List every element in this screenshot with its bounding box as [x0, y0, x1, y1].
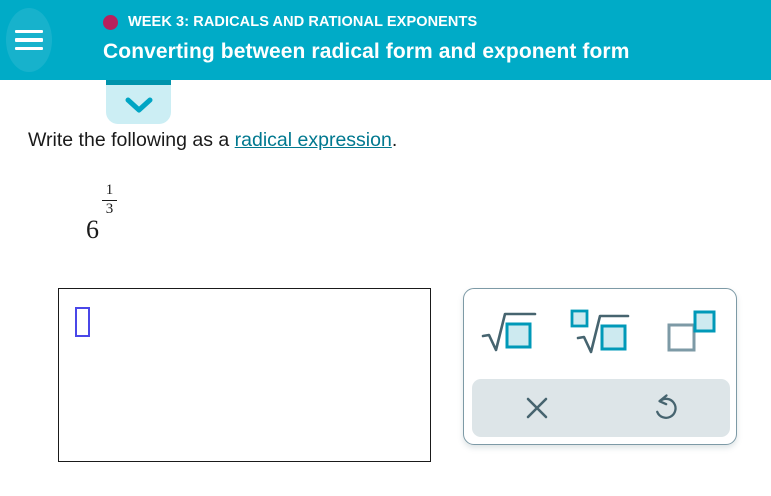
expression-exponent-fraction: 1 3 — [102, 183, 117, 218]
undo-button[interactable] — [601, 379, 730, 437]
hamburger-line — [15, 47, 43, 50]
square-root-icon — [480, 309, 538, 353]
unit-label: WEEK 3: RADICALS AND RATIONAL EXPONENTS — [128, 14, 477, 30]
keypad-symbol-row — [464, 289, 736, 373]
empty-math-slot[interactable] — [75, 307, 90, 337]
page-title: Converting between radical form and expo… — [103, 40, 629, 64]
math-expression: 6 1 3 — [86, 176, 117, 246]
answer-input-box[interactable] — [58, 288, 431, 462]
collapse-header-tab[interactable] — [106, 80, 171, 124]
hamburger-menu-button[interactable] — [6, 8, 52, 72]
exponent-icon — [663, 309, 719, 353]
prompt-text-before: Write the following as a — [28, 129, 235, 151]
clear-button[interactable] — [472, 379, 601, 437]
square-root-button[interactable] — [464, 295, 555, 367]
app-header: WEEK 3: RADICALS AND RATIONAL EXPONENTS … — [0, 0, 771, 80]
header-text-block: WEEK 3: RADICALS AND RATIONAL EXPONENTS … — [103, 10, 629, 64]
close-icon — [522, 393, 552, 423]
hamburger-menu-icon — [15, 30, 43, 50]
chevron-down-icon — [124, 96, 154, 114]
fraction-numerator: 1 — [103, 183, 117, 199]
fraction-denominator: 3 — [103, 202, 117, 218]
radical-expression-link[interactable]: radical expression — [235, 129, 392, 151]
red-dot-icon — [103, 15, 118, 30]
exponent-button[interactable] — [645, 295, 736, 367]
question-prompt: Write the following as a radical express… — [28, 129, 397, 152]
hamburger-line — [15, 38, 43, 41]
nth-root-icon — [569, 307, 631, 355]
keypad-action-row — [472, 379, 730, 437]
expression-base: 6 — [86, 217, 99, 243]
undo-icon — [650, 392, 682, 424]
hamburger-line — [15, 30, 43, 33]
breadcrumb: WEEK 3: RADICALS AND RATIONAL EXPONENTS — [103, 10, 629, 34]
nth-root-button[interactable] — [555, 295, 646, 367]
prompt-text-after: . — [392, 129, 397, 151]
math-keypad-panel — [463, 288, 737, 445]
